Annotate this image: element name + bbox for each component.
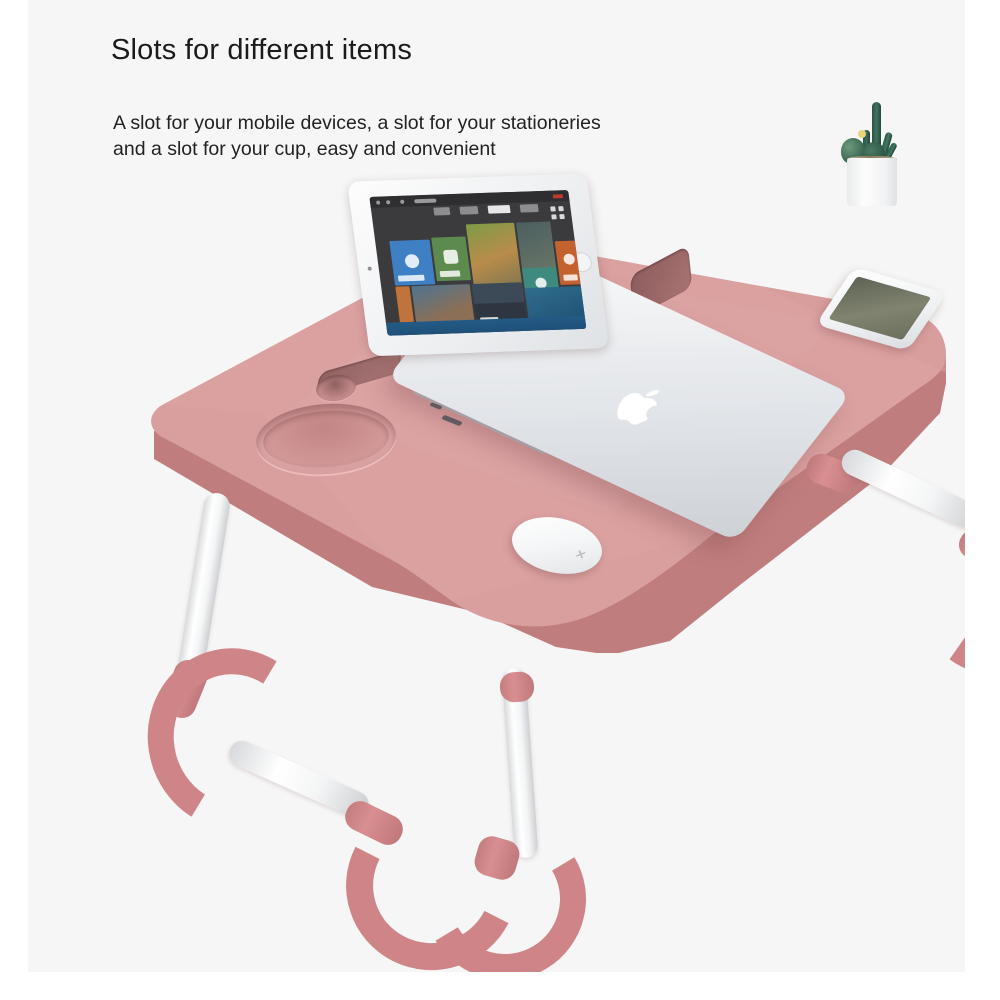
leg-elbow-front-left — [129, 630, 340, 848]
tablet-camera-icon — [367, 267, 372, 271]
laptop-bed-desk — [28, 0, 965, 972]
laptop-port-3 — [441, 415, 463, 427]
leg-cap-center-top — [499, 671, 535, 703]
app-tile[interactable] — [431, 236, 471, 281]
mouse-sensor-mark-icon — [575, 548, 587, 559]
tablet-grid-icon[interactable] — [548, 204, 569, 226]
tablet-body — [347, 173, 609, 356]
app-tile[interactable] — [472, 282, 525, 304]
product-image-panel: Slots for different items A slot for you… — [28, 0, 965, 972]
tablet-screen[interactable] — [369, 190, 586, 336]
app-tile[interactable] — [389, 240, 435, 286]
tablet[interactable] — [349, 160, 622, 381]
tablet-app-tiles[interactable] — [373, 215, 587, 336]
app-tile[interactable] — [411, 284, 474, 324]
